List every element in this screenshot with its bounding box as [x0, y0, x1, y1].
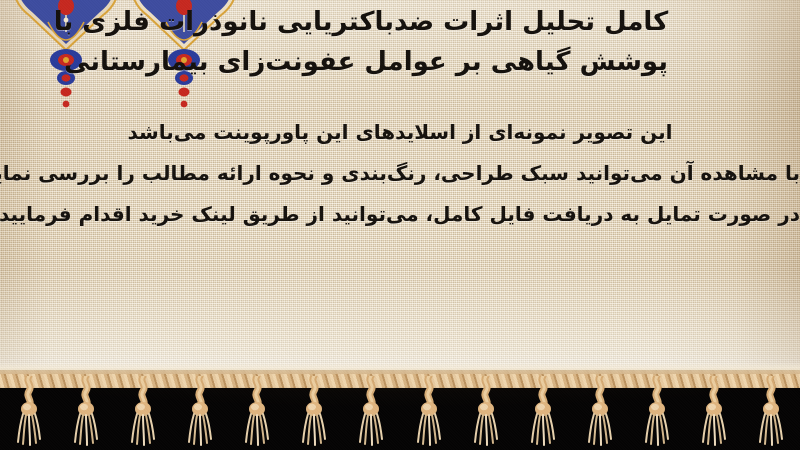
tassel: [697, 376, 731, 446]
tassel: [183, 376, 217, 446]
tassel: [354, 376, 388, 446]
knotted-tassel-fringe: [0, 376, 800, 450]
slide-title-line-2: پوشش گیاهی بر عوامل عفونت‌زای بیمارستانی: [0, 42, 782, 82]
tassel: [412, 376, 446, 446]
slide-canvas: کامل تحلیل اثرات ضدباکتریایی نانوذرات فل…: [0, 0, 800, 450]
slide-title: کامل تحلیل اثرات ضدباکتریایی نانوذرات فل…: [0, 2, 800, 82]
slide-body: این تصویر نمونه‌ای از اسلایدهای این پاور…: [0, 112, 800, 235]
cord-blend: [0, 370, 800, 374]
tassel: [469, 376, 503, 446]
slide-title-line-1: کامل تحلیل اثرات ضدباکتریایی نانوذرات فل…: [0, 2, 782, 42]
slide-body-line-3: در صورت تمایل به دریافت فایل کامل، می‌تو…: [0, 194, 800, 235]
tassel: [297, 376, 331, 446]
tassel: [12, 376, 46, 446]
tassel: [126, 376, 160, 446]
tassel: [754, 376, 788, 446]
slide-body-line-2: با مشاهده آن می‌توانید سبک طراحی، رنگ‌بن…: [0, 153, 800, 194]
tassel: [583, 376, 617, 446]
slide-body-line-1: این تصویر نمونه‌ای از اسلایدهای این پاور…: [0, 112, 800, 153]
tassel: [640, 376, 674, 446]
tassel: [240, 376, 274, 446]
tassel: [69, 376, 103, 446]
tassel: [526, 376, 560, 446]
bottom-black-band: [0, 370, 800, 450]
